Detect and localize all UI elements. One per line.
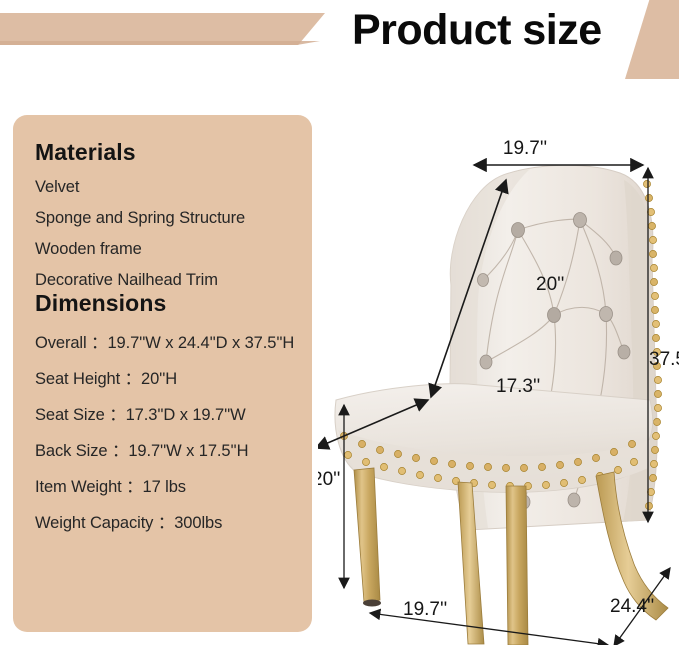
leg-mid	[506, 486, 528, 645]
list-item: Seat Size ：17.3''D x 19.7''W	[35, 401, 290, 425]
label-seat-height: 20''	[318, 469, 340, 490]
spec-panel: Materials Velvet Sponge and Spring Struc…	[13, 115, 312, 632]
list-item: Back Size ：19.7''W x 17.5''H	[35, 437, 290, 461]
label-overall-height: 37.5''	[649, 349, 679, 370]
list-item: Seat Height ：20''H	[35, 365, 290, 389]
chair-figure: 19.7'' 20'' 17.3'' 37.5'' 20'' 19.7'' 24…	[318, 100, 679, 645]
weight-list: Item Weight ：17 lbs Weight Capacity ：300…	[35, 473, 290, 533]
header-banner-left-shadow	[0, 41, 320, 45]
list-item: Overall ：19.7''W x 24.4''D x 37.5''H	[35, 329, 290, 353]
label-seat-depth: 17.3''	[496, 376, 540, 397]
list-item: Item Weight ：17 lbs	[35, 473, 290, 497]
header-banner-left	[0, 13, 325, 45]
list-item: Weight Capacity ：300lbs	[35, 509, 290, 533]
label-base-width: 19.7''	[403, 599, 447, 620]
label-back-height: 20''	[536, 274, 564, 295]
dimensions-list: Overall ：19.7''W x 24.4''D x 37.5''H Sea…	[35, 329, 290, 461]
materials-heading: Materials	[35, 139, 290, 166]
list-item: Velvet	[35, 178, 290, 197]
label-base-depth: 24.4''	[610, 596, 654, 617]
header-banner-right	[625, 0, 679, 79]
dimensions-heading: Dimensions	[35, 290, 290, 317]
label-back-width: 19.7''	[503, 138, 547, 159]
list-item: Wooden frame	[35, 240, 290, 259]
list-item: Sponge and Spring Structure	[35, 209, 290, 228]
materials-list: Velvet Sponge and Spring Structure Woode…	[35, 178, 290, 290]
page-title: Product size	[352, 6, 602, 55]
page-header: Product size	[0, 0, 679, 100]
list-item: Decorative Nailhead Trim	[35, 271, 290, 290]
leg-front-left	[354, 468, 380, 602]
